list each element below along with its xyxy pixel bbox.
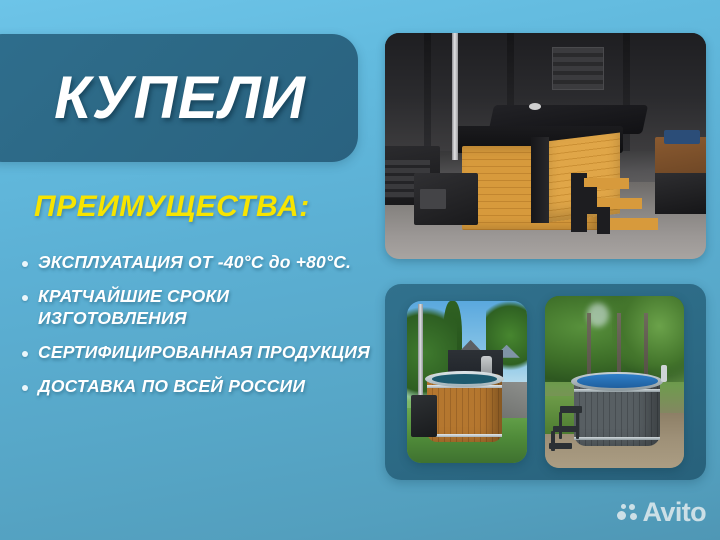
title-banner: КУПЕЛИ (0, 34, 358, 162)
list-item: КРАТЧАЙШИЕ СРОКИ ИЗГОТОВЛЕНИЯ (16, 286, 372, 329)
benefits-list: ЭКСПЛУАТАЦИЯ ОТ -40°С до +80°С. КРАТЧАЙШ… (16, 252, 372, 398)
gallery-panel (385, 284, 706, 480)
bullet-icon (22, 295, 28, 301)
photo-gallery-column (380, 0, 720, 540)
benefits-heading: ПРЕИМУЩЕСТВА: (34, 190, 310, 224)
list-item: ЭКСПЛУАТАЦИЯ ОТ -40°С до +80°С. (16, 252, 372, 273)
bullet-icon (22, 261, 28, 267)
avito-watermark: Avito (617, 499, 707, 526)
photo-rectangular-wooden-hot-tub-in-workshop (385, 33, 706, 259)
bullet-icon (22, 351, 28, 357)
benefit-label: ЭКСПЛУАТАЦИЯ ОТ -40°С до +80°С. (38, 252, 351, 273)
list-item: СЕРТИФИЦИРОВАННАЯ ПРОДУКЦИЯ (16, 342, 372, 363)
avito-dots-icon (617, 504, 638, 521)
benefit-label: СЕРТИФИЦИРОВАННАЯ ПРОДУКЦИЯ (38, 342, 370, 363)
photo-round-grey-hot-tub-with-steps (545, 296, 684, 468)
bullet-icon (22, 385, 28, 391)
left-content-column: КУПЕЛИ ПРЕИМУЩЕСТВА: ЭКСПЛУАТАЦИЯ ОТ -40… (0, 0, 372, 540)
benefit-label: КРАТЧАЙШИЕ СРОКИ ИЗГОТОВЛЕНИЯ (38, 286, 372, 329)
list-item: ДОСТАВКА ПО ВСЕЙ РОССИИ (16, 376, 372, 397)
page-title: КУПЕЛИ (28, 68, 306, 128)
photo-round-wooden-hot-tub-in-garden (407, 301, 527, 463)
avito-wordmark: Avito (643, 499, 707, 526)
benefit-label: ДОСТАВКА ПО ВСЕЙ РОССИИ (38, 376, 305, 397)
